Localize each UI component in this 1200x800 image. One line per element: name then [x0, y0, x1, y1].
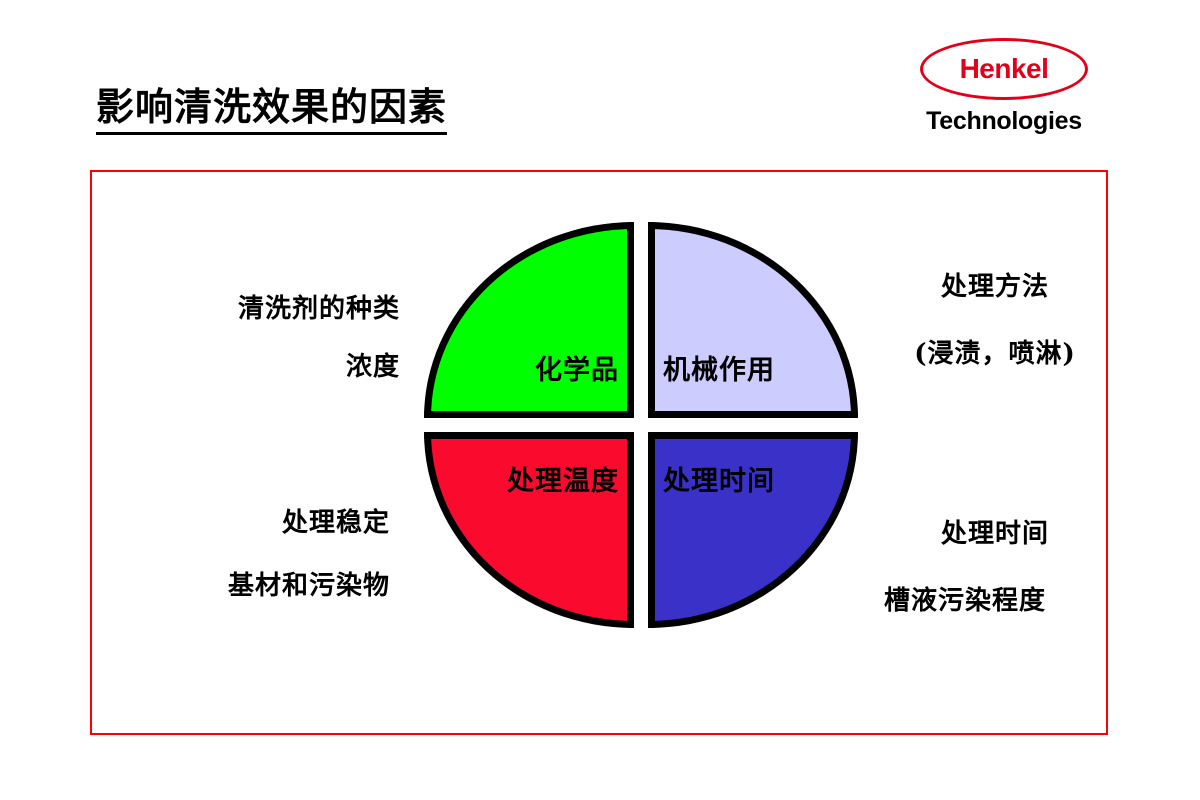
quadrant-pie-diagram: 化学品 机械作用 处理温度 处理时间 — [424, 222, 858, 628]
annotation-right-top-line1: 处理方法 — [880, 274, 1110, 300]
annotation-right-bottom-line1: 处理时间 — [880, 521, 1110, 547]
quadrant-temperature: 处理温度 — [424, 432, 634, 628]
page-title: 影响清洗效果的因素 — [96, 86, 447, 135]
annotation-left-bottom-line1: 处理稳定 — [140, 510, 390, 536]
quadrant-chemicals-label: 化学品 — [535, 348, 619, 387]
logo-tagline: Technologies — [896, 107, 1112, 136]
quadrant-mechanical: 机械作用 — [648, 222, 858, 418]
quadrant-chemicals: 化学品 — [424, 222, 634, 418]
logo-wordmark: Henkel — [923, 53, 1085, 85]
annotation-right-bottom-line2: 槽液污染程度 — [830, 588, 1100, 614]
quadrant-temperature-label: 处理温度 — [507, 459, 619, 498]
annotation-left-top-line1: 清洗剂的种类 — [150, 296, 400, 322]
logo-oval-shape: Henkel — [920, 38, 1088, 100]
quadrant-mechanical-label: 机械作用 — [663, 348, 775, 387]
quadrant-time-label: 处理时间 — [663, 459, 775, 498]
annotation-left-top-line2: 浓度 — [150, 354, 400, 380]
annotation-right-top-line2: (浸渍，喷淋) — [870, 341, 1120, 367]
quadrant-time: 处理时间 — [648, 432, 858, 628]
annotation-left-bottom-line2: 基材和污染物 — [140, 573, 390, 599]
henkel-logo: Henkel Technologies — [896, 38, 1112, 136]
